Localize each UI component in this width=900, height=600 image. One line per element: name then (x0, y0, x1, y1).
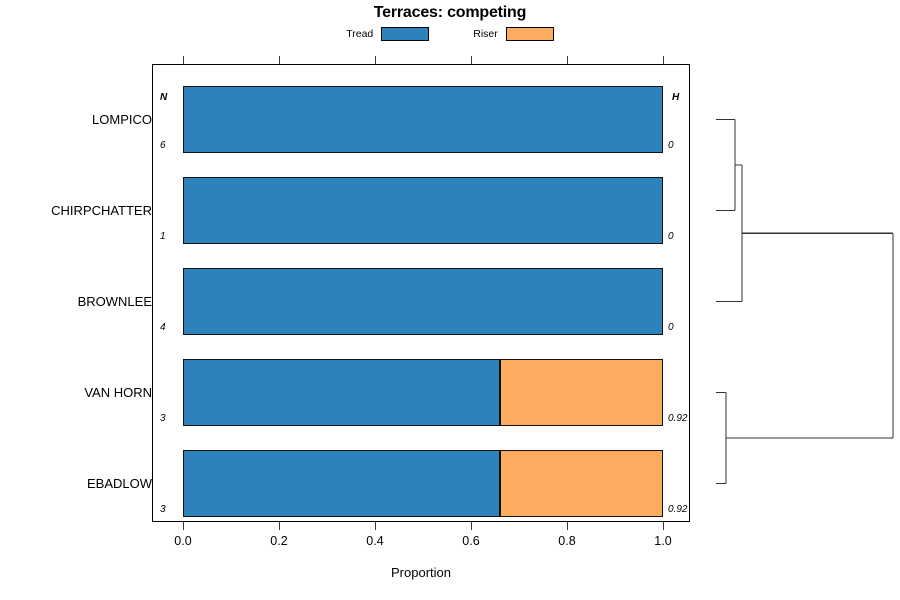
bar-segment-riser (500, 450, 663, 517)
bar-segment-tread (183, 268, 663, 335)
bar-row (183, 268, 663, 335)
h-value: 0 (668, 140, 674, 151)
category-label: BROWNLEE (0, 294, 152, 309)
n-value: 1 (160, 231, 166, 242)
x-tick-mark-top (471, 56, 472, 64)
legend-item-riser: Riser (473, 27, 554, 41)
legend-label-riser: Riser (473, 28, 498, 40)
h-value: 0.92 (668, 504, 687, 515)
x-tick-label: 0.2 (254, 534, 304, 548)
chart-canvas: Terraces: competing Tread Riser LOMPICOC… (0, 0, 900, 600)
n-column-header: N (160, 92, 167, 103)
h-value: 0.92 (668, 413, 687, 424)
legend-item-tread: Tread (346, 27, 429, 41)
x-tick-label: 0.0 (158, 534, 208, 548)
category-label: LOMPICO (0, 112, 152, 127)
x-tick-mark-top (375, 56, 376, 64)
chart-legend: Tread Riser (0, 27, 900, 41)
x-axis-title: Proportion (0, 565, 842, 580)
x-tick-mark (567, 522, 568, 530)
bar-row (183, 450, 663, 517)
x-tick-mark-top (183, 56, 184, 64)
x-tick-mark-top (279, 56, 280, 64)
n-value: 3 (160, 504, 166, 515)
bar-segment-tread (183, 450, 500, 517)
x-tick-mark-top (567, 56, 568, 64)
n-value: 3 (160, 413, 166, 424)
x-tick-mark (471, 522, 472, 530)
bar-row (183, 86, 663, 153)
bar-segment-tread (183, 177, 663, 244)
bar-segment-tread (183, 86, 663, 153)
category-label: EBADLOW (0, 476, 152, 491)
x-tick-mark (663, 522, 664, 530)
n-value: 4 (160, 322, 166, 333)
category-label: CHIRPCHATTER (0, 203, 152, 218)
h-value: 0 (668, 322, 674, 333)
h-value: 0 (668, 231, 674, 242)
legend-swatch-riser (506, 27, 554, 41)
bar-row (183, 359, 663, 426)
x-tick-mark-top (663, 56, 664, 64)
x-tick-label: 0.8 (542, 534, 592, 548)
x-tick-label: 0.6 (446, 534, 496, 548)
x-tick-label: 1.0 (638, 534, 688, 548)
bar-segment-riser (500, 359, 663, 426)
bar-row (183, 177, 663, 244)
x-tick-mark (375, 522, 376, 530)
chart-title: Terraces: competing (0, 4, 900, 22)
x-tick-mark (279, 522, 280, 530)
category-label: VAN HORN (0, 385, 152, 400)
legend-label-tread: Tread (346, 28, 373, 40)
legend-swatch-tread (381, 27, 429, 41)
dendrogram (690, 64, 900, 522)
x-tick-label: 0.4 (350, 534, 400, 548)
h-column-header: H (672, 92, 679, 103)
bar-segment-tread (183, 359, 500, 426)
x-tick-mark (183, 522, 184, 530)
n-value: 6 (160, 140, 166, 151)
